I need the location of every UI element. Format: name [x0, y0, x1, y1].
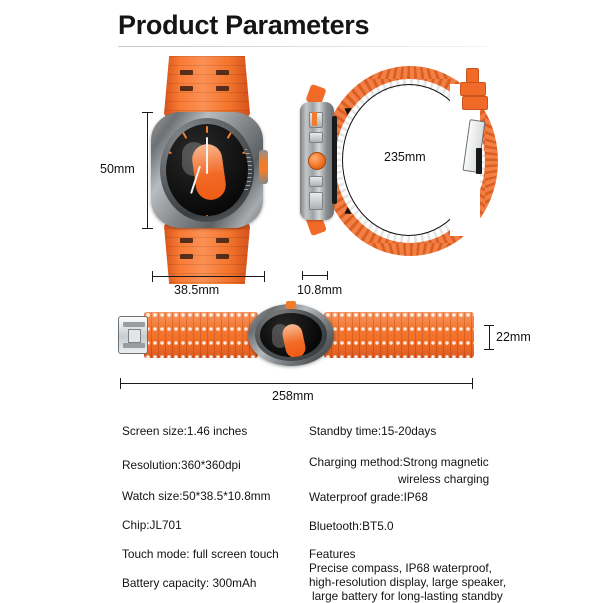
spec-resolution: Resolution:360*360dpi — [122, 458, 241, 472]
spec-waterproof-grade: Waterproof grade:IP68 — [309, 490, 428, 504]
strap-clasp-tip — [476, 148, 482, 174]
dim-label-length-258mm: 258mm — [272, 389, 314, 403]
dim-label-circumference-235mm: 235mm — [384, 150, 426, 164]
metal-clasp — [118, 316, 148, 354]
strap-holes-right — [324, 312, 474, 358]
dim-line-thickness — [302, 275, 327, 276]
spec-charging-method-2: wireless charging — [398, 472, 489, 486]
watch-case-flat — [248, 304, 334, 366]
clasp-pin-top — [123, 322, 145, 327]
dim-line-length — [120, 383, 472, 384]
side-button-lower-mid — [309, 176, 323, 187]
dim-line-height — [147, 112, 148, 228]
spec-features-line-3: large battery for long-lasting standby — [312, 589, 503, 603]
minute-hand — [206, 137, 208, 174]
strap-band-right — [324, 312, 474, 358]
dim-label-strap-width-22mm: 22mm — [496, 330, 531, 344]
dim-line-strap-width — [489, 325, 490, 349]
dim-label-width-38-5mm: 38.5mm — [174, 283, 219, 297]
spec-screen-size: Screen size:1.46 inches — [122, 424, 247, 438]
dim-cap-top — [142, 112, 153, 113]
dim-label-height-50mm: 50mm — [100, 162, 135, 176]
spec-features-line-2: high-resolution display, large speaker, — [309, 575, 506, 589]
watch-dial-front — [166, 124, 248, 216]
dim-cap-thick-left — [302, 271, 303, 280]
spec-features-title: Features — [309, 547, 356, 561]
strap-holes-left — [144, 312, 258, 358]
dim-cap-length-left — [120, 378, 121, 389]
dim-cap-left — [152, 271, 153, 282]
product-parameters-infographic: Product Parameters — [0, 0, 600, 600]
dim-cap-strap-bottom — [484, 349, 494, 350]
spec-watch-size: Watch size:50*38.5*10.8mm — [122, 489, 270, 503]
dial-compass-graphic-flat — [280, 322, 307, 357]
page-title: Product Parameters — [118, 10, 369, 41]
watch-case-side — [300, 102, 334, 220]
crown-top-flat — [286, 301, 296, 309]
watch-case-front — [151, 112, 263, 228]
clasp-tongue — [128, 329, 141, 343]
watch-dial-flat — [260, 313, 322, 357]
dim-cap-thick-right — [327, 271, 328, 280]
title-divider — [118, 46, 488, 47]
watch-side-view: 235mm — [300, 62, 512, 278]
spec-bluetooth: Bluetooth:BT5.0 — [309, 519, 394, 533]
side-button-top — [309, 112, 323, 128]
watch-flat-view — [118, 304, 474, 366]
spec-touch-mode: Touch mode: full screen touch — [122, 547, 279, 561]
dim-cap-right — [264, 271, 265, 282]
spec-chip: Chip:JL701 — [122, 518, 182, 532]
bezel-flat — [255, 309, 327, 361]
spec-battery-capacity: Battery capacity: 300mAh — [122, 576, 256, 590]
dim-cap-bottom — [142, 228, 153, 229]
clasp-pin-bottom — [123, 343, 145, 348]
dim-cap-strap-top — [484, 325, 494, 326]
dim-cap-length-right — [472, 378, 473, 389]
dim-label-thickness-10-8mm: 10.8mm — [297, 283, 342, 297]
dim-line-width — [152, 276, 264, 277]
side-button-bottom — [309, 192, 323, 210]
spec-features-line-1: Precise compass, IP68 waterproof, — [309, 561, 492, 575]
side-button-upper-mid — [309, 132, 323, 143]
spec-charging-method: Charging method:Strong magnetic — [309, 455, 489, 469]
case-side-black-edge — [332, 116, 337, 204]
spec-standby-time: Standby time:15-20days — [309, 424, 436, 438]
strap-buckle-side — [460, 68, 494, 120]
crown-button — [259, 150, 268, 184]
watch-front-view — [148, 56, 266, 284]
strap-band-left — [144, 312, 258, 358]
rotating-crown — [308, 152, 326, 170]
bezel — [160, 118, 254, 222]
specs-section: Screen size:1.46 inches Resolution:360*3… — [0, 418, 600, 600]
